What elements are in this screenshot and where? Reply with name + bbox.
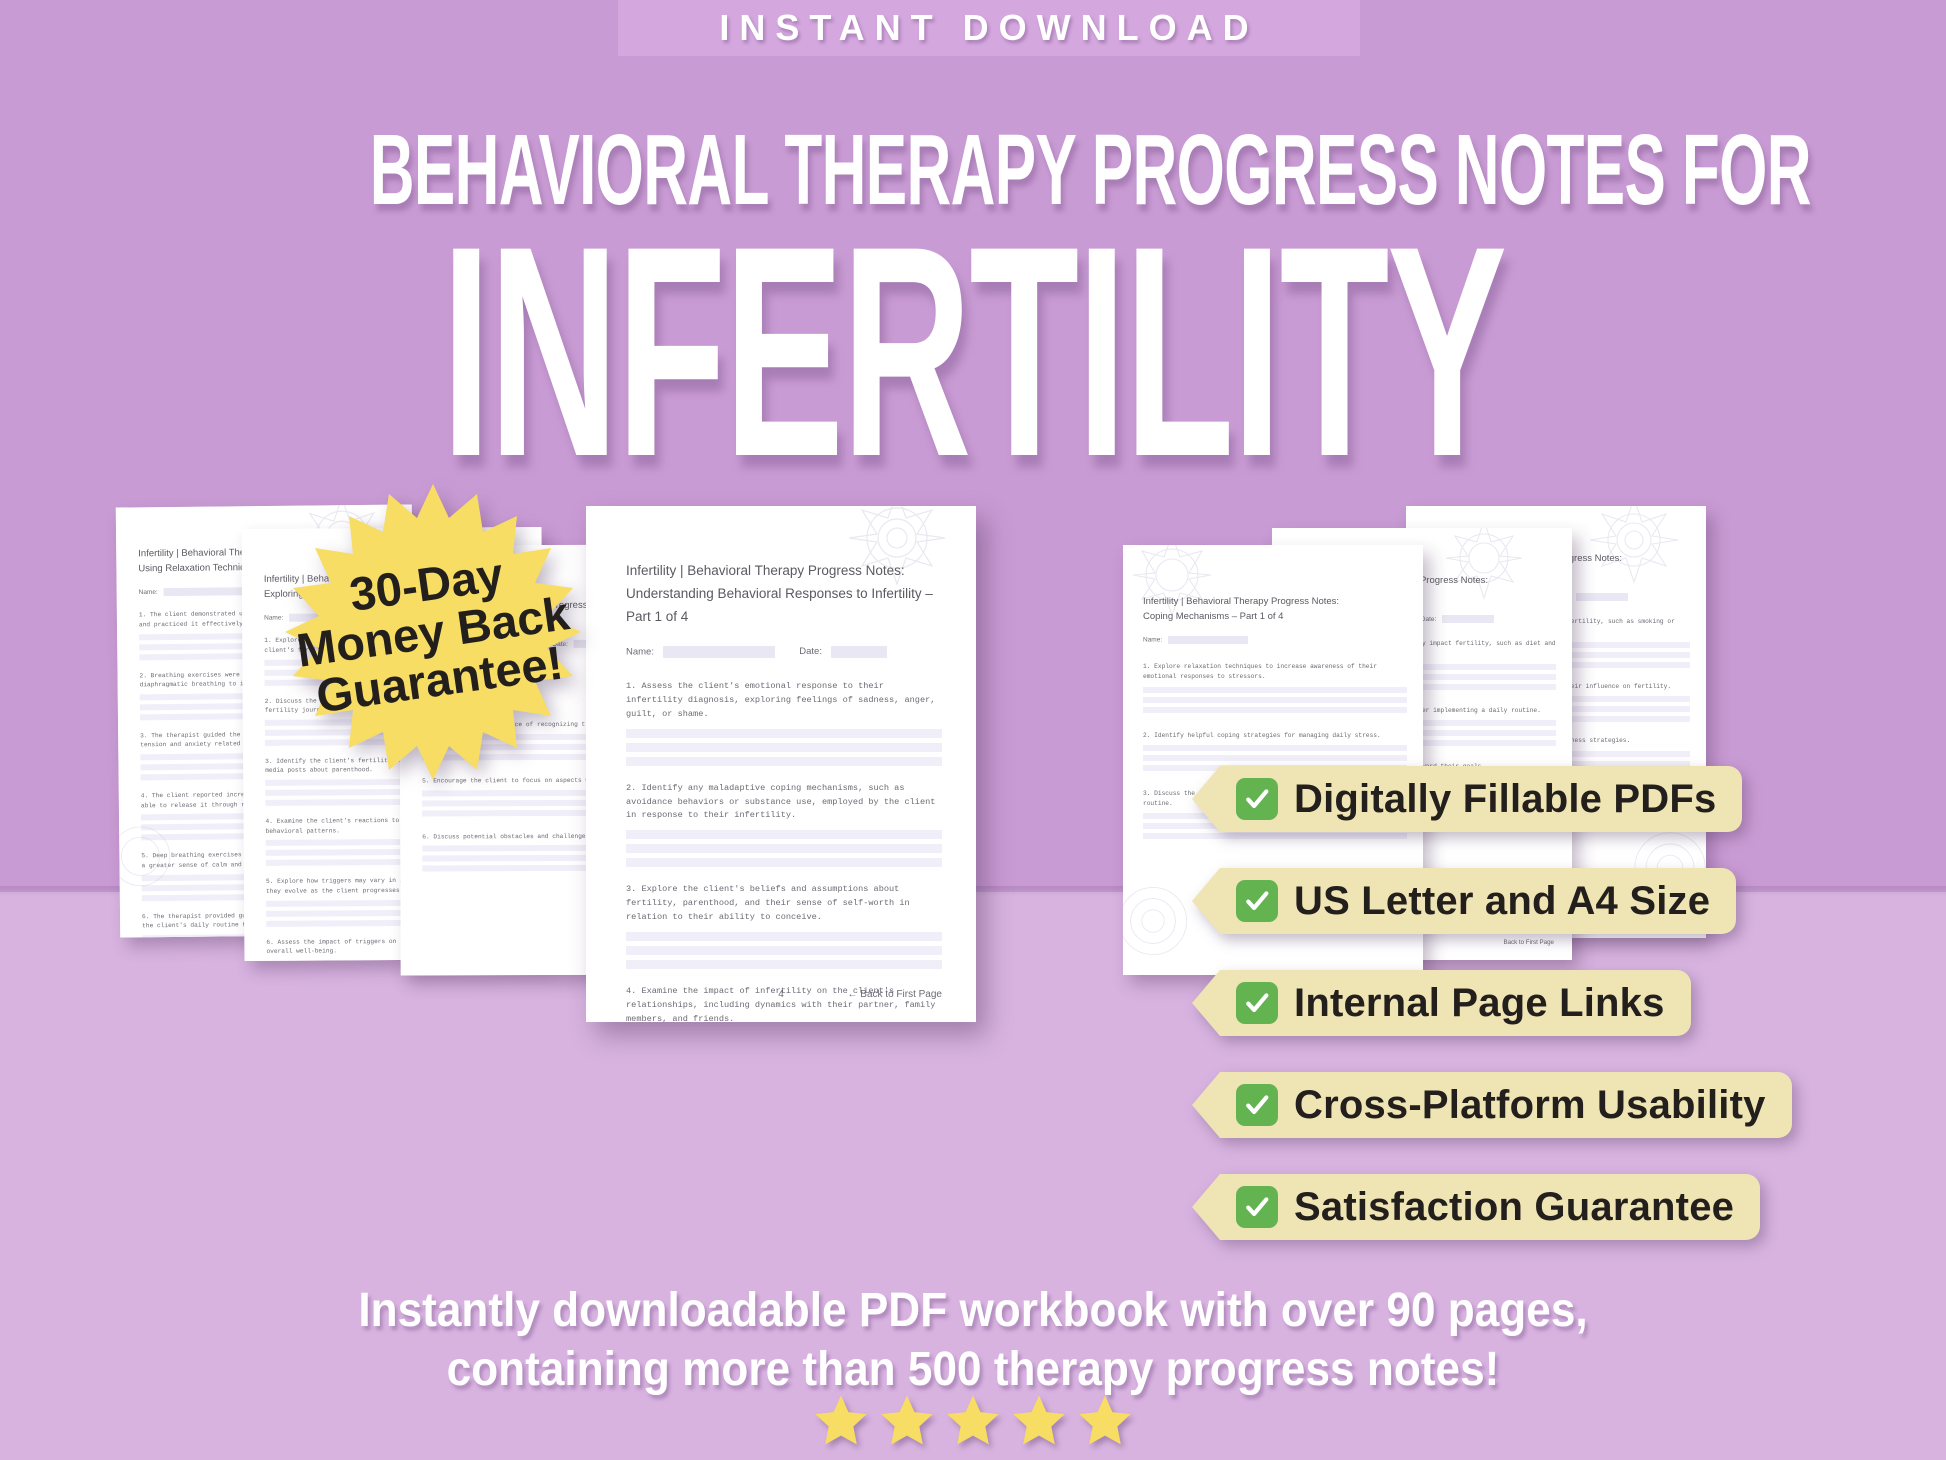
ribbon-arrow-tip [1192, 1072, 1220, 1138]
feature-ribbon-internal-page-links[interactable]: Internal Page Links [1192, 970, 1691, 1036]
doc5-date-field[interactable] [1442, 615, 1494, 623]
money-back-badge: 30-Day Money Back Guarantee! [283, 482, 583, 782]
doc4-subtitle: Coping Mechanisms – Part 1 of 4 [1143, 610, 1407, 625]
doc4-item: 2. Identify helpful coping strategies fo… [1143, 731, 1407, 741]
center-doc-item: 1. Assess the client's emotional respons… [626, 680, 942, 722]
doc6-date-field[interactable] [1576, 593, 1628, 601]
headline-block: BEHAVIORAL THERAPY PROGRESS NOTES FOR IN… [0, 120, 1946, 468]
feature-label: Digitally Fillable PDFs [1294, 777, 1716, 822]
check-icon [1236, 982, 1278, 1024]
ribbon-arrow-tip [1192, 868, 1220, 934]
feature-label: Internal Page Links [1294, 981, 1665, 1026]
center-doc-back-link[interactable]: ← Back to First Page [848, 989, 942, 1000]
tagline-line-1: Instantly downloadable PDF workbook with… [78, 1282, 1868, 1341]
center-date-label: Date: [799, 646, 822, 657]
poster-canvas: INSTANT DOWNLOAD BEHAVIORAL THERAPY PROG… [0, 0, 1946, 1460]
doc5-date-label: Date: [1421, 616, 1437, 623]
feature-label: US Letter and A4 Size [1294, 879, 1710, 924]
center-name-label: Name: [626, 646, 654, 657]
doc5-back-link[interactable]: Back to First Page [1503, 939, 1554, 946]
doc1-name-label: Name: [139, 589, 158, 596]
feature-ribbon-satisfaction-guarantee[interactable]: Satisfaction Guarantee [1192, 1174, 1760, 1240]
ribbon-arrow-tip [1192, 970, 1220, 1036]
star-icon [945, 1392, 1001, 1448]
feature-ribbon-digitally-fillable-pdfs[interactable]: Digitally Fillable PDFs [1192, 766, 1742, 832]
star-icon [879, 1392, 935, 1448]
instant-download-banner: INSTANT DOWNLOAD [618, 0, 1360, 56]
star-rating [0, 1392, 1946, 1448]
doc4-name-field[interactable] [1168, 636, 1248, 644]
ribbon-arrow-tip [1192, 1174, 1220, 1240]
star-icon [1077, 1392, 1133, 1448]
star-icon [1011, 1392, 1067, 1448]
headline-line-2: INFERTILITY [389, 234, 1557, 468]
tagline-line-2: containing more than 500 therapy progres… [78, 1341, 1868, 1400]
star-icon [813, 1392, 869, 1448]
doc4-item: 1. Explore relaxation techniques to incr… [1143, 662, 1407, 681]
doc1-name-field[interactable] [164, 588, 254, 597]
feature-ribbon-us-letter-and-a4-size[interactable]: US Letter and A4 Size [1192, 868, 1736, 934]
check-icon [1236, 1186, 1278, 1228]
doc4-name-label: Name: [1143, 637, 1162, 644]
center-doc-item: 2. Identify any maladaptive coping mecha… [626, 782, 942, 824]
feature-label: Satisfaction Guarantee [1294, 1185, 1734, 1230]
tagline-block: Instantly downloadable PDF workbook with… [0, 1282, 1946, 1399]
center-name-field[interactable] [663, 646, 775, 658]
center-doc-subtitle: Understanding Behavioral Responses to In… [626, 583, 942, 629]
ribbon-arrow-tip [1192, 766, 1220, 832]
check-icon [1236, 778, 1278, 820]
center-doc-title: Infertility | Behavioral Therapy Progres… [626, 560, 942, 583]
check-icon [1236, 1084, 1278, 1126]
doc4-title: Infertility | Behavioral Therapy Progres… [1143, 595, 1407, 610]
document-page-center: Infertility | Behavioral Therapy Progres… [586, 506, 976, 1022]
feature-label: Cross-Platform Usability [1294, 1083, 1766, 1128]
center-doc-item: 3. Explore the client's beliefs and assu… [626, 883, 942, 925]
center-date-field[interactable] [831, 646, 887, 658]
feature-ribbon-cross-platform-usability[interactable]: Cross-Platform Usability [1192, 1072, 1792, 1138]
instant-download-label: INSTANT DOWNLOAD [719, 7, 1258, 49]
check-icon [1236, 880, 1278, 922]
